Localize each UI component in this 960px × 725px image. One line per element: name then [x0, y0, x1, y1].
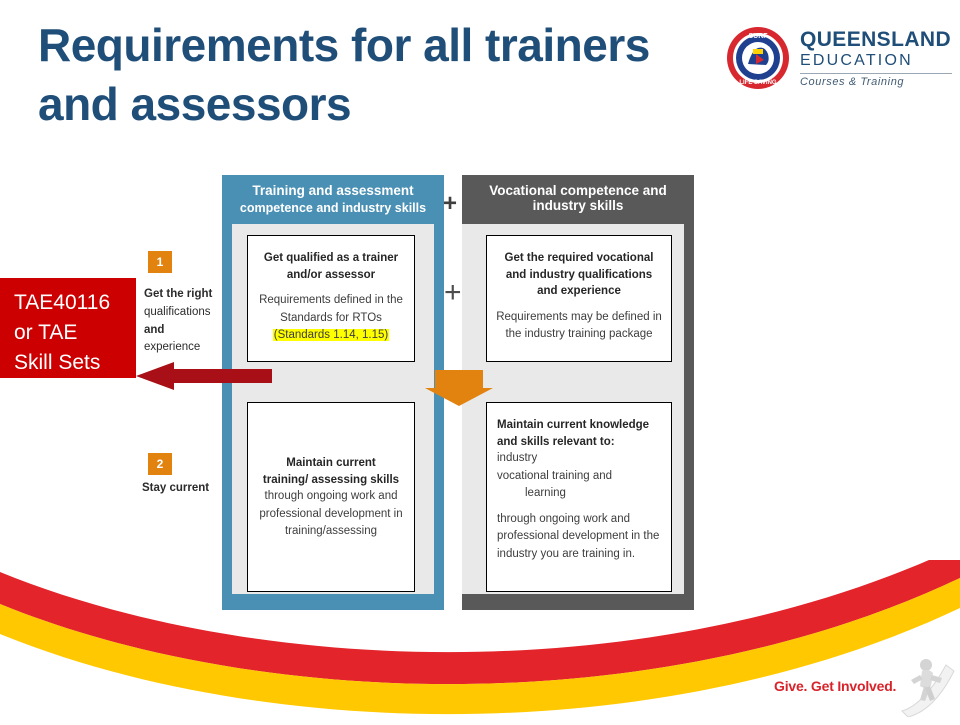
- logo-strapline: Courses & Training: [800, 77, 952, 88]
- card-body-line2: professional development in: [256, 506, 406, 523]
- column-header-vocational-competence: Vocational competence and industry skill…: [462, 175, 694, 224]
- card-body-line1: industry: [497, 450, 661, 467]
- step-badge-2: 2: [148, 453, 172, 475]
- card-get-qualified[interactable]: Get qualified as a trainer and/or assess…: [247, 235, 415, 362]
- card-maintain-knowledge[interactable]: Maintain current knowledge and skills re…: [486, 402, 672, 592]
- card-heading-line2: and/or assessor: [256, 267, 406, 284]
- step-label-1-line2: qualifications: [144, 306, 210, 318]
- brand-logo: SURF LIFE SAVING QUEENSLAND EDUCATION Co…: [726, 22, 936, 94]
- step-label-1-line4: experience: [144, 341, 200, 353]
- card-heading-line3: and experience: [495, 283, 663, 300]
- card-body-line1: through ongoing work and: [256, 488, 406, 505]
- card-body-highlight-wrap: (Standards 1.14, 1.15): [256, 327, 406, 344]
- logo-organisation: QUEENSLAND: [800, 29, 952, 50]
- card-heading-line1: Get qualified as a trainer: [256, 250, 406, 267]
- step-badge-1: 1: [148, 251, 172, 273]
- callout-line3: Skill Sets: [14, 348, 136, 378]
- card-body-line4: through ongoing work and: [497, 511, 661, 528]
- footer-tagline: Give. Get Involved.: [774, 678, 896, 694]
- card-get-vocational-quals[interactable]: Get the required vocational and industry…: [486, 235, 672, 362]
- step-label-1: Get the right qualifications and experie…: [144, 286, 224, 357]
- callout-line1: TAE40116: [14, 288, 136, 318]
- card-body-line1: Requirements may be defined in: [495, 309, 663, 326]
- callout-tae-qualification: TAE40116 or TAE Skill Sets: [0, 278, 136, 378]
- page-title: Requirements for all trainers and assess…: [38, 16, 658, 134]
- card-body-line1: Requirements defined in the: [256, 292, 406, 309]
- card-body-line6: industry you are training in.: [497, 546, 661, 563]
- plus-operator-body: +: [444, 278, 462, 308]
- card-body-line2: the industry training package: [495, 326, 663, 343]
- card-body-line2: Standards for RTOs: [256, 310, 406, 327]
- column-header-line1: Training and assessment: [222, 183, 444, 198]
- column-header-line2: industry skills: [462, 198, 694, 213]
- logo-division: EDUCATION: [800, 53, 952, 69]
- svg-text:SURF: SURF: [748, 33, 768, 40]
- column-training-assessment: Training and assessment competence and i…: [222, 175, 444, 610]
- card-body-line3: learning: [497, 485, 661, 502]
- card-body-line2: vocational training and: [497, 468, 661, 485]
- column-header-line1: Vocational competence and: [462, 183, 694, 198]
- column-header-training-assessment: Training and assessment competence and i…: [222, 175, 444, 224]
- card-heading-line1: Maintain current knowledge: [497, 417, 661, 434]
- logo-divider: [800, 73, 952, 74]
- card-spacer: [256, 283, 406, 292]
- column-header-line2: competence and industry skills: [222, 201, 444, 215]
- surf-life-saving-badge-icon: SURF LIFE SAVING: [726, 26, 790, 90]
- column-body-training-assessment: Get qualified as a trainer and/or assess…: [232, 224, 434, 594]
- plus-operator-header: +: [443, 192, 457, 216]
- card-heading-line1: Maintain current: [256, 455, 406, 472]
- step-label-1-line1: Get the right: [144, 288, 212, 300]
- surfer-figure-icon: [898, 655, 956, 717]
- card-body-line5: professional development in the: [497, 528, 661, 545]
- standards-highlight: (Standards 1.14, 1.15): [273, 329, 389, 341]
- card-heading-line2: and industry qualifications: [495, 267, 663, 284]
- down-chevron-icon: [425, 370, 493, 406]
- card-heading-line2: and skills relevant to:: [497, 434, 661, 451]
- card-heading-line1: Get the required vocational: [495, 250, 663, 267]
- card-spacer: [497, 502, 661, 511]
- step-label-2: Stay current: [142, 480, 222, 498]
- step-label-1-line3: and: [144, 324, 164, 336]
- column-body-vocational-competence: Get the required vocational and industry…: [462, 224, 684, 594]
- card-spacer: [495, 300, 663, 309]
- card-heading-line2: training/ assessing skills: [256, 472, 406, 489]
- card-maintain-training-skills[interactable]: Maintain current training/ assessing ski…: [247, 402, 415, 592]
- callout-line2: or TAE: [14, 318, 136, 348]
- svg-text:LIFE SAVING: LIFE SAVING: [739, 80, 777, 86]
- left-arrow-icon: [136, 362, 272, 390]
- card-body-line3: training/assessing: [256, 523, 406, 540]
- column-vocational-competence: Vocational competence and industry skill…: [462, 175, 694, 610]
